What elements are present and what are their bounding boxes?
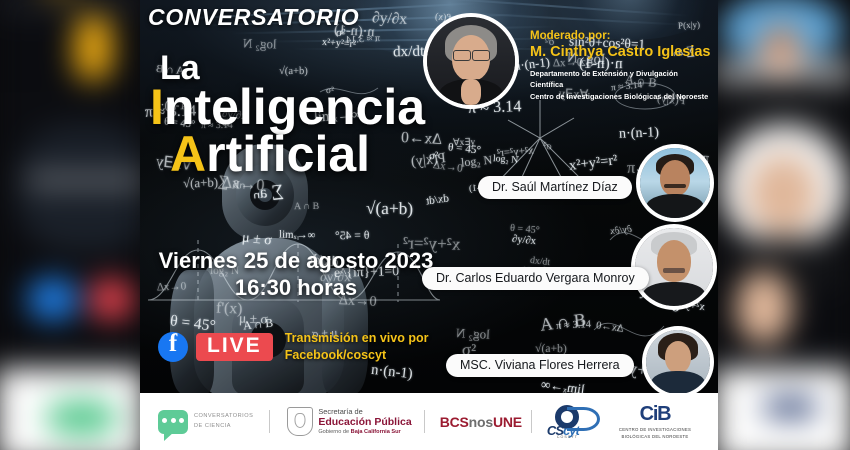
broadcast-text: Transmisión en vivo por Facebook/coscyt — [285, 330, 429, 364]
chalkboard-background: ∆x→0π ≈ 3.14n·(n-1)∂y/∂xθ = 45°A ∩ Blog₂… — [140, 0, 718, 394]
logo-cib: CiB CENTRO DE INVESTIGACIONES BIOLÓGICAS… — [619, 403, 691, 440]
divider-3 — [531, 410, 532, 433]
avatar-moderator — [427, 17, 515, 105]
moderator-dept-line-1: Departamento de Extensión y Divulgación … — [530, 68, 712, 91]
title-highlight-a: A — [170, 126, 206, 182]
cib-wordmark: CiB — [619, 403, 691, 426]
bcs-part-1: BCS — [440, 414, 469, 430]
live-badge: LIVE — [196, 333, 273, 361]
speaker-name-pill-2: Dr. Carlos Eduardo Vergara Monroy — [422, 267, 649, 290]
event-datetime: Viernes 25 de agosto 2023 16:30 horas — [146, 248, 446, 302]
title-line-artificial: Artificial — [170, 130, 480, 179]
sep-line-1: Secretaría de — [318, 407, 411, 416]
sep-line-3-bold: Baja California Sur — [351, 429, 401, 435]
logo-bcsnosune: BCSnosUNE — [440, 414, 522, 430]
logo-conversatorios: CONVERSATORIOS DE CIENCIA — [158, 410, 253, 434]
live-broadcast-row: LIVE Transmisión en vivo por Facebook/co… — [158, 330, 428, 364]
moderator-dept-line-2: Centro de Investigaciones Biológicas del… — [530, 91, 712, 102]
speaker-name-pill-3: MSC. Viviana Flores Herrera — [446, 354, 634, 377]
moderator-label: Moderado por: — [530, 30, 712, 42]
speaker-name-pill-1: Dr. Saúl Martínez Díaz — [478, 176, 632, 199]
avatar-speaker-1 — [640, 148, 710, 218]
moderator-name: M. Cinthya Castro Iglesias — [530, 44, 712, 60]
cib-sub-line-1: CENTRO DE INVESTIGACIONES — [619, 427, 691, 433]
title-highlight-i: I — [150, 79, 164, 135]
blurred-left-edge — [0, 0, 144, 450]
divider-2 — [424, 410, 425, 433]
event-date: Viernes 25 de agosto 2023 — [146, 248, 446, 275]
logo-sep: Secretaría de Educación Pública Gobierno… — [287, 407, 411, 436]
poster-content: ∆x→0π ≈ 3.14n·(n-1)∂y/∂xθ = 45°A ∩ Blog₂… — [140, 0, 718, 450]
bcs-part-3: UNE — [493, 414, 522, 430]
sponsor-footer: CONVERSATORIOS DE CIENCIA Secretaría de … — [140, 393, 718, 450]
cib-subtext: CENTRO DE INVESTIGACIONES BIOLÓGICAS DEL… — [619, 427, 691, 440]
avatar-speaker-3 — [646, 330, 710, 394]
facebook-icon[interactable] — [158, 332, 188, 362]
logo-coscyt: CScyt COSCYT — [547, 405, 601, 439]
event-time: 16:30 horas — [146, 275, 446, 302]
broadcast-line-2: Facebook/coscyt — [285, 347, 429, 364]
sep-line-3: Gobierno de Baja California Sur — [318, 429, 411, 436]
broadcast-line-1: Transmisión en vivo por — [285, 330, 429, 347]
poster-image: ∆x→0π ≈ 3.14n·(n-1)∂y/∂xθ = 45°A ∩ Blog₂… — [0, 0, 850, 450]
speech-bubble-icon — [158, 410, 188, 434]
kicker-conversatorio: CONVERSATORIO — [148, 4, 359, 31]
conversatorios-label: CONVERSATORIOS DE CIENCIA — [194, 412, 253, 431]
avatar-speaker-2 — [635, 228, 713, 306]
cib-sub-line-2: BIOLÓGICAS DEL NOROESTE — [619, 434, 691, 440]
coscyt-subtext: COSCYT — [557, 435, 578, 439]
moderator-department: Departamento de Extensión y Divulgación … — [530, 68, 712, 102]
bcs-part-2: nos — [469, 414, 493, 430]
sep-shield-icon — [287, 407, 313, 436]
moderator-block: Moderado por: M. Cinthya Castro Iglesias… — [530, 30, 712, 102]
divider-1 — [269, 410, 270, 433]
sep-line-3-prefix: Gobierno de — [318, 429, 350, 435]
conversatorios-line-2: DE CIENCIA — [194, 422, 253, 432]
blurred-right-edge — [714, 0, 850, 450]
title-rest-rtificial: rtificial — [206, 126, 370, 182]
sep-line-2: Educación Pública — [318, 416, 411, 429]
conversatorios-line-1: CONVERSATORIOS — [194, 412, 253, 422]
